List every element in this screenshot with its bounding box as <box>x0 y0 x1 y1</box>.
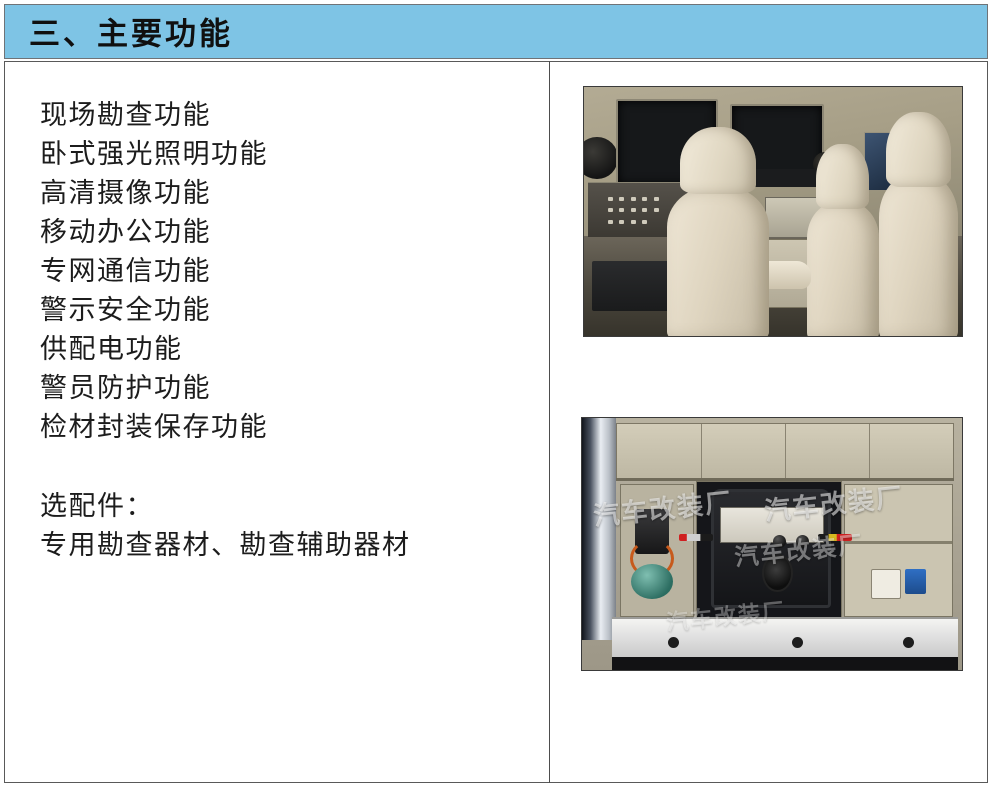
optional-accessories-label: 选配件： <box>40 487 530 526</box>
rear-bumper-step <box>612 617 958 662</box>
headrest-middle <box>816 144 869 209</box>
list-item: 检材封装保存功能 <box>40 408 530 447</box>
slide-title-bar: 三、主要功能 <box>4 4 988 59</box>
seat-middle <box>807 202 879 337</box>
headrest-front <box>680 127 756 194</box>
list-item: 专网通信功能 <box>40 252 530 291</box>
list-item: 移动办公功能 <box>40 213 530 252</box>
list-item: 高清摄像功能 <box>40 174 530 213</box>
equipment-bay-scene: 汽车改装厂 汽车改装厂 汽车改装厂 汽车改装厂 <box>582 418 962 670</box>
list-item: 供配电功能 <box>40 330 530 369</box>
list-item: 现场勘查功能 <box>40 96 530 135</box>
page-title: 三、主要功能 <box>29 8 233 53</box>
feature-list: 现场勘查功能 卧式强光照明功能 高清摄像功能 移动办公功能 专网通信功能 警示安… <box>40 96 530 565</box>
headrest-rear <box>886 112 950 187</box>
overhead-cabinets <box>616 423 954 480</box>
photo-rear-equipment-bay: 汽车改装厂 汽车改装厂 汽车改装厂 汽车改装厂 <box>581 417 963 671</box>
generator-unit <box>711 489 831 608</box>
list-item: 警示安全功能 <box>40 291 530 330</box>
generator-control-panel <box>720 507 825 543</box>
cabin-scene <box>584 87 962 336</box>
seat-front <box>667 187 769 337</box>
rear-door-panel <box>582 418 616 640</box>
list-item: 卧式强光照明功能 <box>40 135 530 174</box>
blue-container <box>905 569 926 594</box>
optional-accessories-items: 专用勘查器材、勘查辅助器材 <box>40 526 530 565</box>
list-item: 警员防护功能 <box>40 369 530 408</box>
valve-right <box>818 534 852 541</box>
spacer <box>40 447 530 487</box>
valve-left <box>679 534 713 541</box>
column-divider <box>549 61 550 783</box>
photo-vehicle-cabin-interior <box>583 86 963 337</box>
seat-rear <box>879 174 958 337</box>
floor-strip <box>612 657 958 670</box>
power-socket <box>871 569 902 599</box>
slide-root: 三、主要功能 现场勘查功能 卧式强光照明功能 高清摄像功能 移动办公功能 专网通… <box>0 0 1000 786</box>
generator-fan <box>762 554 793 592</box>
